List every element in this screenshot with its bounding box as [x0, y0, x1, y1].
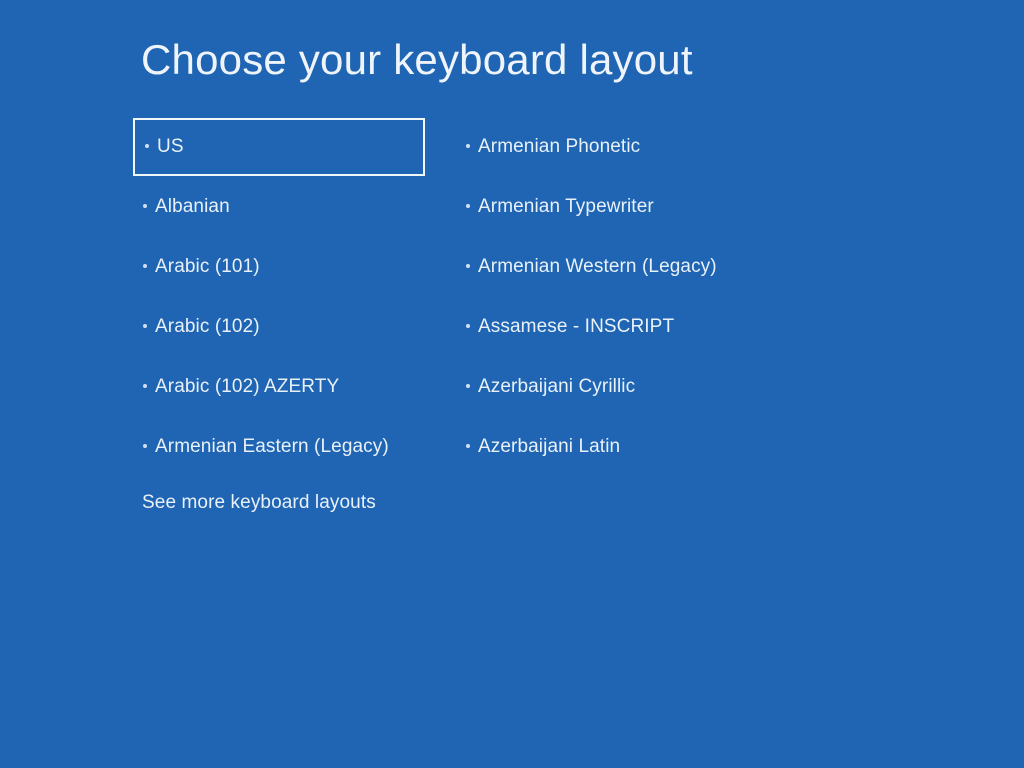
layout-option-us[interactable]: US	[133, 118, 425, 176]
bullet-dot-icon	[145, 144, 149, 148]
keyboard-layout-screen: Choose your keyboard layout US Albanian …	[0, 0, 1024, 768]
layout-option-label: Armenian Eastern (Legacy)	[155, 436, 389, 458]
layout-option-arabic-102[interactable]: Arabic (102)	[133, 298, 425, 356]
layout-option-label: Armenian Typewriter	[478, 196, 654, 218]
bullet-dot-icon	[466, 204, 470, 208]
layout-option-label: US	[157, 136, 184, 158]
bullet-dot-icon	[143, 384, 147, 388]
layout-option-albanian[interactable]: Albanian	[133, 178, 425, 236]
layout-option-arabic-102-azerty[interactable]: Arabic (102) AZERTY	[133, 358, 425, 416]
layout-option-armenian-phonetic[interactable]: Armenian Phonetic	[457, 118, 777, 176]
bullet-dot-icon	[143, 264, 147, 268]
layout-option-assamese-inscript[interactable]: Assamese - INSCRIPT	[457, 298, 777, 356]
layout-option-label: Azerbaijani Latin	[478, 436, 620, 458]
layout-option-azerbaijani-latin[interactable]: Azerbaijani Latin	[457, 418, 777, 476]
bullet-dot-icon	[466, 144, 470, 148]
layout-option-label: Arabic (101)	[155, 256, 260, 278]
layout-option-label: Azerbaijani Cyrillic	[478, 376, 635, 398]
bullet-dot-icon	[466, 324, 470, 328]
bullet-dot-icon	[466, 264, 470, 268]
bullet-dot-icon	[143, 204, 147, 208]
layout-column-1: US Albanian Arabic (101) Arabic (102) Ar…	[133, 118, 433, 478]
bullet-dot-icon	[143, 444, 147, 448]
see-more-keyboard-layouts-link[interactable]: See more keyboard layouts	[142, 492, 376, 514]
layout-option-label: Assamese - INSCRIPT	[478, 316, 674, 338]
layout-option-label: Arabic (102) AZERTY	[155, 376, 339, 398]
keyboard-layout-list: US Albanian Arabic (101) Arabic (102) Ar…	[0, 0, 1024, 768]
bullet-dot-icon	[143, 324, 147, 328]
layout-option-arabic-101[interactable]: Arabic (101)	[133, 238, 425, 296]
bullet-dot-icon	[466, 444, 470, 448]
layout-option-armenian-typewriter[interactable]: Armenian Typewriter	[457, 178, 777, 236]
layout-option-label: Albanian	[155, 196, 230, 218]
bullet-dot-icon	[466, 384, 470, 388]
layout-column-2: Armenian Phonetic Armenian Typewriter Ar…	[457, 118, 777, 478]
layout-option-armenian-western-legacy[interactable]: Armenian Western (Legacy)	[457, 238, 777, 296]
layout-option-label: Arabic (102)	[155, 316, 260, 338]
layout-option-azerbaijani-cyrillic[interactable]: Azerbaijani Cyrillic	[457, 358, 777, 416]
layout-option-label: Armenian Western (Legacy)	[478, 256, 717, 278]
layout-option-label: Armenian Phonetic	[478, 136, 640, 158]
layout-option-armenian-eastern-legacy[interactable]: Armenian Eastern (Legacy)	[133, 418, 425, 476]
